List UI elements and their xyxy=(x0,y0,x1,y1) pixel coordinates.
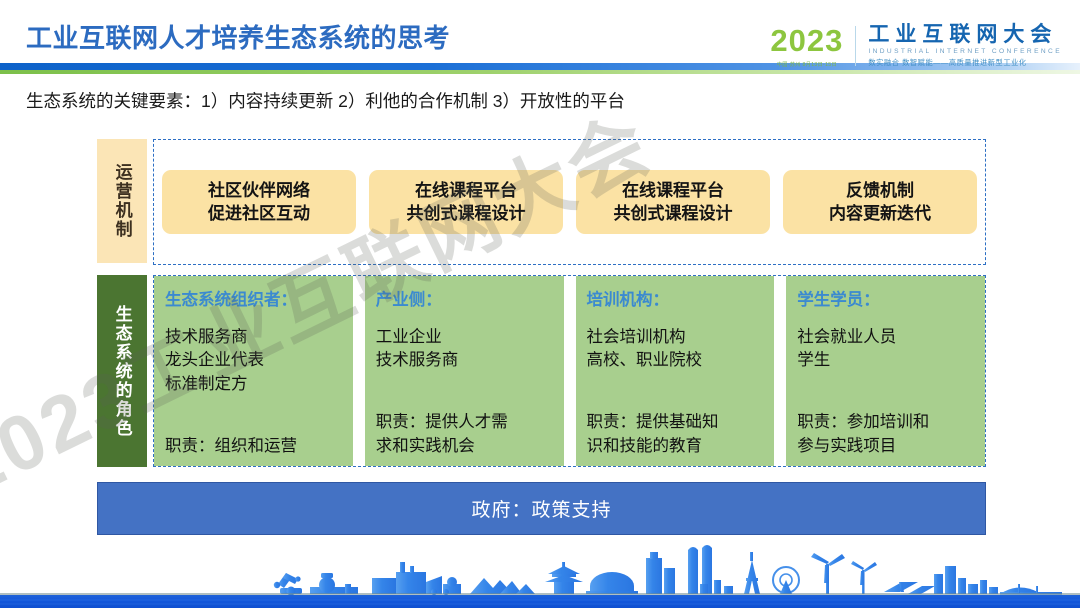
ecosystem-diagram: 运营机制 社区伙伴网络 促进社区互动 在线课程平台 共创式课程设计 在线课程平台… xyxy=(97,139,986,467)
logo-english-name: INDUSTRIAL INTERNET CONFERENCE xyxy=(868,48,1062,55)
operating-card-line2: 内容更新迭代 xyxy=(787,202,973,225)
operating-card-line2: 共创式课程设计 xyxy=(373,202,559,225)
operating-card-line2: 共创式课程设计 xyxy=(580,202,766,225)
operating-card[interactable]: 在线课程平台 共创式课程设计 xyxy=(576,170,770,235)
logo-chinese-name: 工业互联网大会 xyxy=(868,24,1062,46)
operating-card-line1: 社区伙伴网络 xyxy=(166,179,352,202)
role-card-duty: 职责：参加培训和 参与实践项目 xyxy=(797,411,974,458)
role-card[interactable]: 生态系统组织者： 技术服务商 龙头企业代表 标准制定方 职责：组织和运营 xyxy=(154,276,353,466)
operating-card[interactable]: 在线课程平台 共创式课程设计 xyxy=(369,170,563,235)
logo-year: 2023 xyxy=(770,25,843,56)
tier-label-roles: 生态系统的角色 xyxy=(97,275,147,467)
operating-card[interactable]: 社区伙伴网络 促进社区互动 xyxy=(162,170,356,235)
role-card-duty: 职责：组织和运营 xyxy=(165,435,342,458)
role-card-duty: 职责：提供人才需 求和实践机会 xyxy=(376,411,553,458)
operating-card-line1: 在线课程平台 xyxy=(373,179,559,202)
key-elements-text: 生态系统的关键要素：1）内容持续更新 2）利他的合作机制 3）开放性的平台 xyxy=(26,88,625,113)
role-card-heading: 培训机构： xyxy=(587,286,764,310)
role-card[interactable]: 培训机构： 社会培训机构 高校、职业院校 职责：提供基础知 识和技能的教育 xyxy=(576,276,775,466)
tier-gap xyxy=(97,265,986,275)
role-card-heading: 产业侧： xyxy=(376,286,553,310)
role-card-duty: 职责：提供基础知 识和技能的教育 xyxy=(587,411,764,458)
role-card-members: 工业企业 技术服务商 xyxy=(376,326,553,373)
operating-cards-container: 社区伙伴网络 促进社区互动 在线课程平台 共创式课程设计 在线课程平台 共创式课… xyxy=(153,139,986,265)
operating-card[interactable]: 反馈机制 内容更新迭代 xyxy=(783,170,977,235)
logo-name-block: 工业互联网大会 INDUSTRIAL INTERNET CONFERENCE 数… xyxy=(856,24,1062,68)
role-card-heading: 学生学员： xyxy=(797,286,974,310)
role-card-members: 技术服务商 龙头企业代表 标准制定方 xyxy=(165,326,342,396)
operating-card-line1: 在线课程平台 xyxy=(580,179,766,202)
role-card-heading: 生态系统组织者： xyxy=(165,286,342,310)
footer-skyline-graphic xyxy=(0,544,1080,608)
conference-logo: 2023 中国·苏州 8月13日-15日 工业互联网大会 INDUSTRIAL … xyxy=(770,20,1062,72)
page-title: 工业互联网人才培养生态系统的思考 xyxy=(26,18,450,55)
government-support-bar[interactable]: 政府：政策支持 xyxy=(97,482,986,535)
role-card[interactable]: 产业侧： 工业企业 技术服务商 职责：提供人才需 求和实践机会 xyxy=(365,276,564,466)
roles-cards-container: 生态系统组织者： 技术服务商 龙头企业代表 标准制定方 职责：组织和运营 产业侧… xyxy=(153,275,986,467)
role-card-members: 社会就业人员 学生 xyxy=(797,326,974,373)
logo-year-block: 2023 中国·苏州 8月13日-15日 xyxy=(770,25,855,68)
operating-card-line1: 反馈机制 xyxy=(787,179,973,202)
role-card[interactable]: 学生学员： 社会就业人员 学生 职责：参加培训和 参与实践项目 xyxy=(786,276,985,466)
operating-card-line2: 促进社区互动 xyxy=(166,202,352,225)
slide-canvas: 工业互联网人才培养生态系统的思考 2023 中国·苏州 8月13日-15日 工业… xyxy=(0,0,1080,608)
tier-ecosystem-roles: 生态系统的角色 生态系统组织者： 技术服务商 龙头企业代表 标准制定方 职责：组… xyxy=(97,275,986,467)
government-support-label: 政府：政策支持 xyxy=(471,495,611,522)
logo-year-subtitle: 中国·苏州 8月13日-15日 xyxy=(777,61,837,68)
tier-label-operating: 运营机制 xyxy=(97,139,147,263)
tier-operating-mechanism: 运营机制 社区伙伴网络 促进社区互动 在线课程平台 共创式课程设计 在线课程平台… xyxy=(97,139,986,265)
logo-slogan: 数实融合 数智赋能——高质量推进新型工业化 xyxy=(868,58,1062,68)
role-card-members: 社会培训机构 高校、职业院校 xyxy=(587,326,764,373)
